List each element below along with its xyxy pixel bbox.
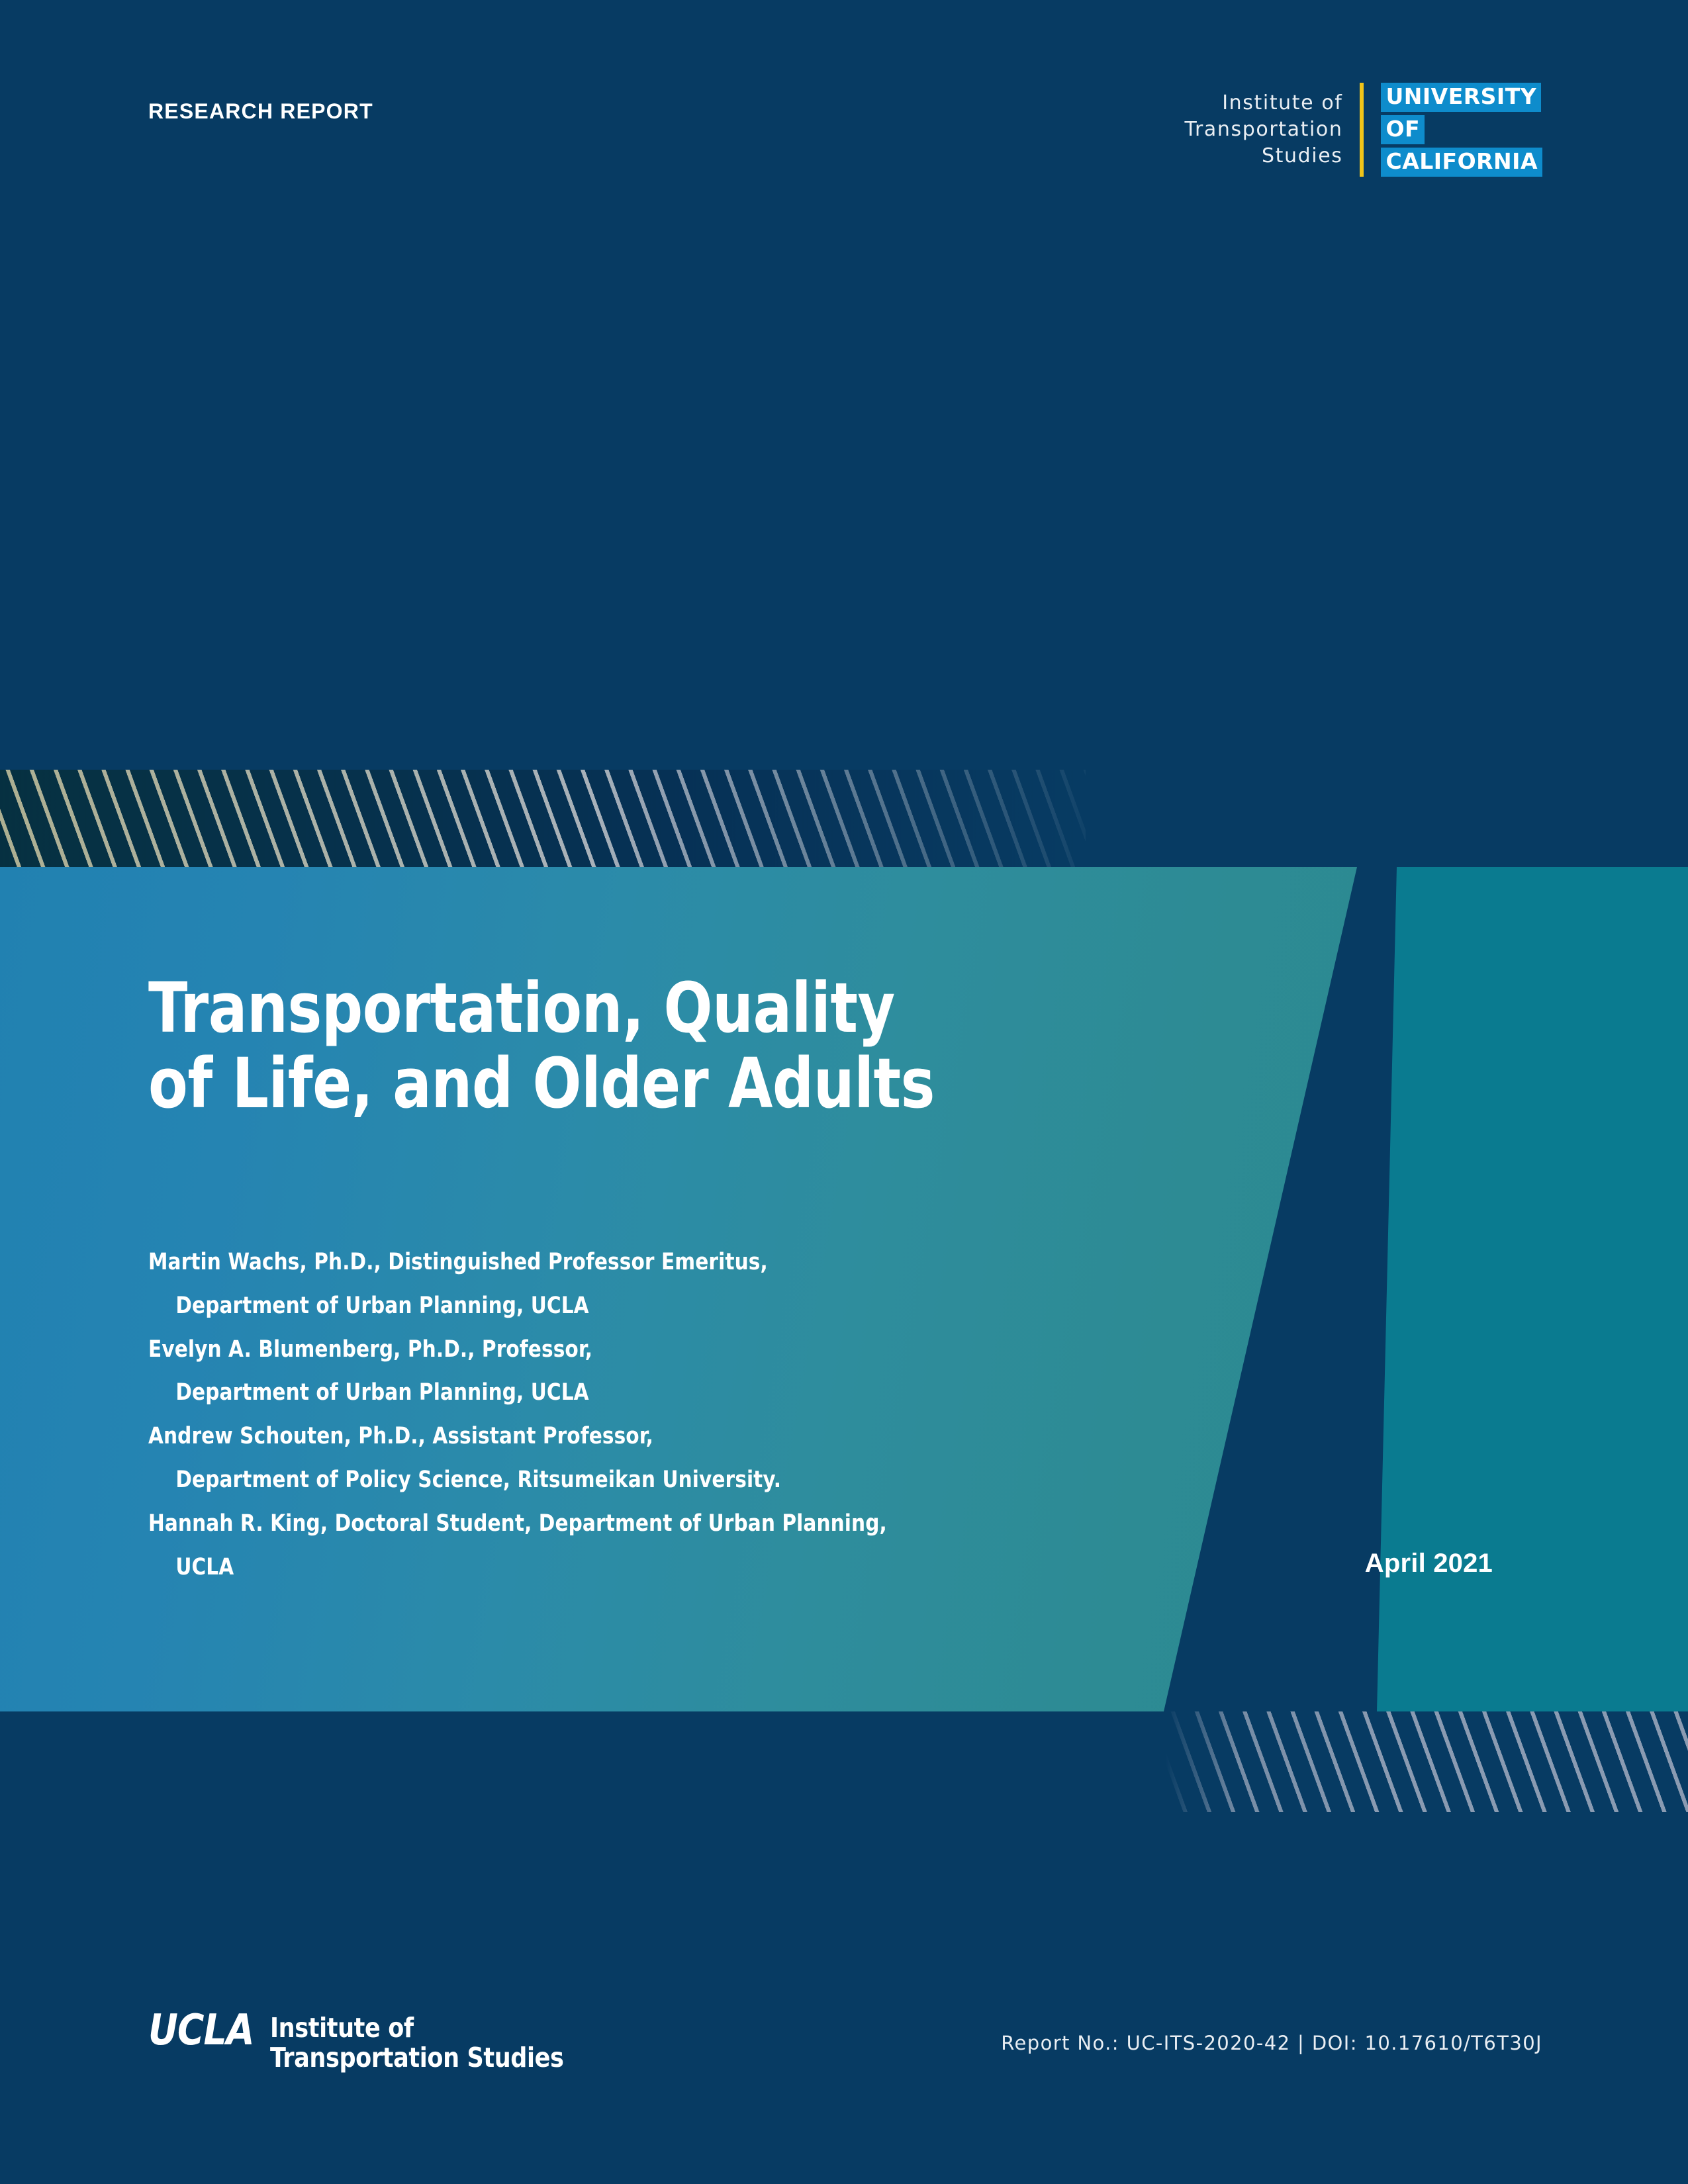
- author-affiliation: Department of Urban Planning, UCLA: [148, 1285, 1094, 1328]
- author-affiliation: UCLA: [148, 1546, 1094, 1590]
- stripe-lines-bottom: [1165, 1711, 1688, 1812]
- author-name: Evelyn A. Blumenberg, Ph.D., Professor,: [148, 1328, 1094, 1372]
- diagonal-stripe-pattern-top: [0, 770, 1086, 870]
- page-title-line-1: Transportation, Quality: [148, 970, 1109, 1046]
- uc-wordmark-line-3: CALIFORNIA: [1381, 148, 1542, 177]
- author-list: Martin Wachs, Ph.D., Distinguished Profe…: [148, 1241, 1094, 1589]
- ucla-wordmark: UCLA: [148, 2009, 254, 2052]
- university-of-california-wordmark: UNIVERSITY OF CALIFORNIA: [1381, 83, 1542, 177]
- author-affiliation: Department of Urban Planning, UCLA: [148, 1371, 1094, 1415]
- ucla-its-sublabel-line-2: Transportation Studies: [270, 2043, 564, 2073]
- page-title-line-2: of Life, and Older Adults: [148, 1046, 1109, 1121]
- report-type-kicker: RESEARCH REPORT: [148, 99, 373, 124]
- its-wordmark-line-3: Studies: [1184, 143, 1342, 169]
- its-wordmark-line-2: Transportation: [1184, 116, 1342, 143]
- ucla-its-sublabel: Institute of Transportation Studies: [270, 2009, 579, 2073]
- uc-wordmark-line-1: UNIVERSITY: [1381, 83, 1541, 112]
- its-uc-logo-lockup: Institute of Transportation Studies UNIV…: [1184, 83, 1542, 177]
- its-wordmark-line-1: Institute of: [1184, 90, 1342, 116]
- author-name: Hannah R. King, Doctoral Student, Depart…: [148, 1502, 1094, 1546]
- ucla-its-footer-logo: UCLA Institute of Transportation Studies: [148, 2009, 579, 2073]
- uc-wordmark-line-2: OF: [1381, 115, 1425, 144]
- publication-date: April 2021: [1365, 1549, 1493, 1578]
- date-teal-panel: [1377, 867, 1688, 1711]
- page-title: Transportation, Quality of Life, and Old…: [148, 970, 1109, 1122]
- report-number-and-doi: Report No.: UC-ITS-2020-42 | DOI: 10.176…: [1001, 2032, 1542, 2054]
- its-wordmark: Institute of Transportation Studies: [1184, 83, 1360, 177]
- stripe-lines-top: [0, 770, 1086, 870]
- ucla-its-sublabel-line-1: Institute of: [270, 2013, 564, 2043]
- logo-divider-rule: [1360, 83, 1364, 177]
- author-affiliation: Department of Policy Science, Ritsumeika…: [148, 1459, 1094, 1502]
- report-cover-page: RESEARCH REPORT Institute of Transportat…: [0, 0, 1688, 2184]
- author-name: Martin Wachs, Ph.D., Distinguished Profe…: [148, 1241, 1094, 1285]
- author-name: Andrew Schouten, Ph.D., Assistant Profes…: [148, 1415, 1094, 1459]
- diagonal-stripe-pattern-bottom: [1165, 1711, 1688, 1812]
